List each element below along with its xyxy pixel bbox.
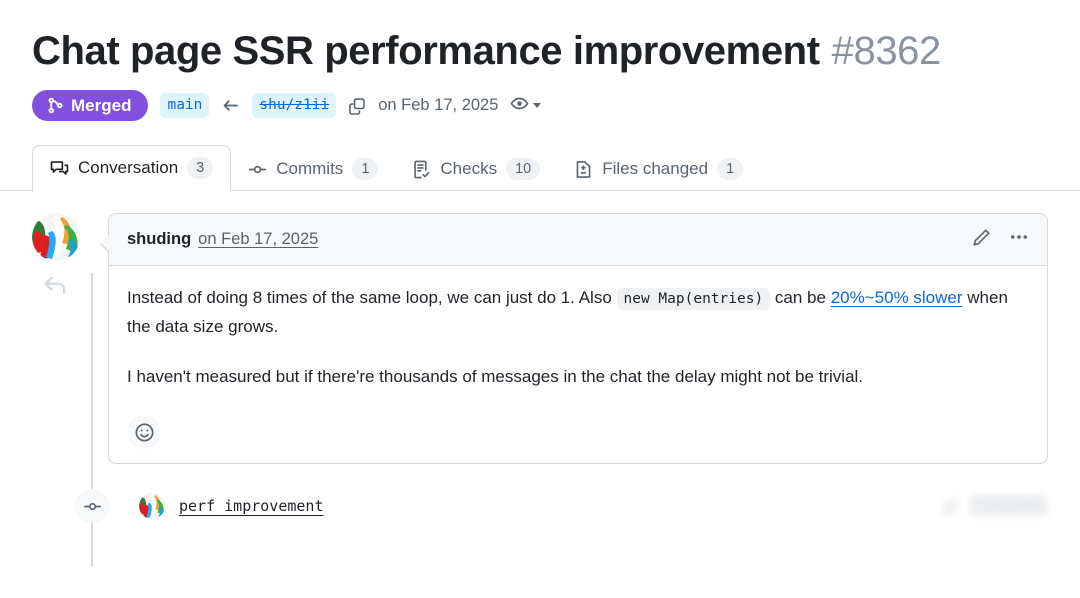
tab-conversation-count: 3: [187, 157, 213, 179]
tab-commits-count: 1: [352, 158, 378, 180]
commit-message[interactable]: perf improvement: [179, 497, 324, 515]
copy-icon[interactable]: [348, 97, 366, 115]
commit-meta: a1b2c3d: [943, 495, 1048, 517]
comment-discussion-icon: [50, 159, 69, 178]
pr-tabs: Conversation 3 Commits 1 Checks: [32, 143, 1048, 191]
commit-row: perf improvement a1b2c3d: [32, 486, 1048, 526]
comment-actions: [972, 227, 1029, 252]
pr-title-text: Chat page SSR performance improvement: [32, 26, 820, 76]
file-diff-icon: [574, 160, 593, 179]
kebab-horizontal-icon[interactable]: [1009, 227, 1029, 252]
eye-icon: [510, 94, 529, 118]
comment-timestamp[interactable]: on Feb 17, 2025: [198, 230, 318, 249]
arrow-left-icon: [221, 96, 240, 115]
tab-files-changed-label: Files changed: [602, 158, 708, 180]
commit-avatar[interactable]: [139, 493, 165, 519]
git-commit-node-icon: [75, 489, 109, 523]
avatar[interactable]: [32, 213, 80, 261]
paragraph1-text-after: can be: [770, 288, 831, 307]
tab-checks[interactable]: Checks 10: [395, 147, 557, 191]
perf-link[interactable]: 20%~50% slower: [831, 288, 963, 307]
comment-paragraph-2: I haven't measured but if there're thous…: [127, 363, 1029, 391]
base-branch[interactable]: main: [160, 93, 209, 118]
pr-number: #8362: [832, 26, 941, 76]
comment-paragraph-1: Instead of doing 8 times of the same loo…: [127, 284, 1029, 341]
comment-author[interactable]: shuding: [127, 230, 191, 249]
merge-date: on Feb 17, 2025: [378, 96, 498, 115]
checklist-icon: [412, 160, 431, 179]
tab-files-changed[interactable]: Files changed 1: [557, 147, 760, 191]
page-title: Chat page SSR performance improvement #8…: [32, 0, 1048, 76]
tab-checks-label: Checks: [440, 158, 497, 180]
comment-author-group: shuding on Feb 17, 2025: [127, 230, 318, 249]
pull-request-page: Chat page SSR performance improvement #8…: [0, 0, 1080, 598]
comment-block: shuding on Feb 17, 2025: [32, 213, 1048, 464]
smiley-icon[interactable]: [127, 415, 161, 449]
git-commit-icon: [248, 160, 267, 179]
comment-card: shuding on Feb 17, 2025: [108, 213, 1048, 464]
avatar-column: [32, 213, 92, 464]
git-merge-icon: [47, 97, 64, 114]
head-branch[interactable]: shu/z1ii: [252, 93, 336, 118]
pencil-icon[interactable]: [972, 228, 991, 252]
tab-checks-count: 10: [506, 158, 540, 180]
chevron-down-icon: [533, 103, 541, 108]
commit-copy-icon[interactable]: [943, 498, 959, 514]
tab-commits[interactable]: Commits 1: [231, 147, 395, 191]
status-badge-label: Merged: [71, 97, 131, 114]
pr-timeline: shuding on Feb 17, 2025: [32, 213, 1048, 526]
tab-commits-label: Commits: [276, 158, 343, 180]
comment-header: shuding on Feb 17, 2025: [109, 214, 1047, 266]
watch-dropdown[interactable]: [510, 94, 541, 118]
reply-icon[interactable]: [41, 271, 69, 304]
status-badge: Merged: [32, 90, 148, 121]
tab-files-changed-count: 1: [717, 158, 743, 180]
inline-code: new Map(entries): [617, 288, 771, 310]
commit-sha[interactable]: a1b2c3d: [969, 495, 1048, 517]
pr-meta-row: Merged main shu/z1ii on Feb 17, 2025: [32, 90, 1048, 121]
tab-conversation-label: Conversation: [78, 157, 178, 179]
comment-body: Instead of doing 8 times of the same loo…: [109, 266, 1047, 463]
paragraph1-text-before: Instead of doing 8 times of the same loo…: [127, 288, 617, 307]
tab-conversation[interactable]: Conversation 3: [32, 145, 231, 192]
